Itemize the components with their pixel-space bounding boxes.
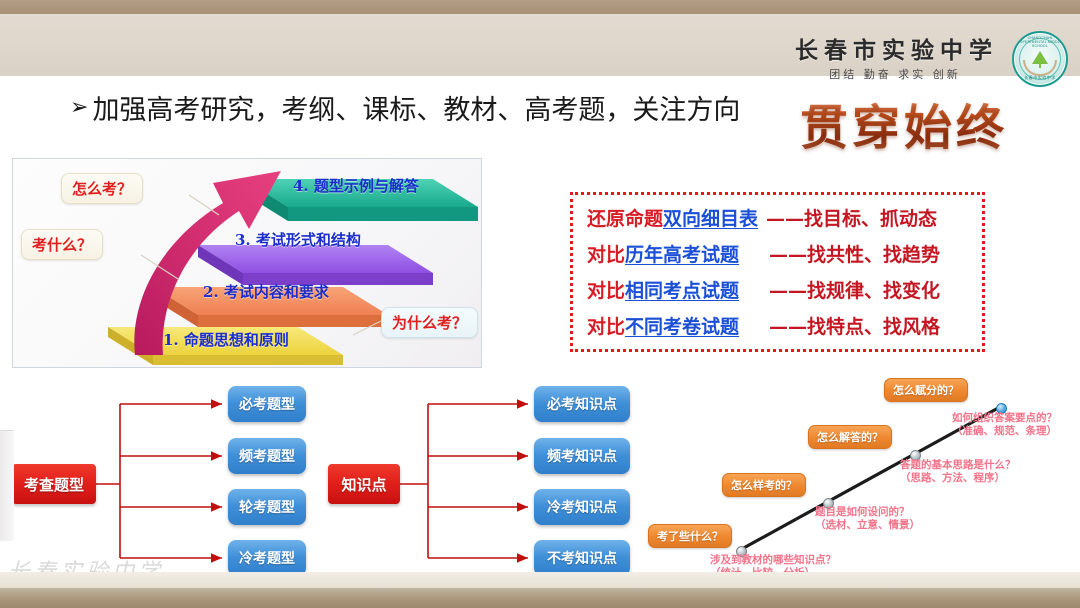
calligraphy-title: 贯穿始终 bbox=[800, 88, 1008, 158]
bullet-arrow-icon: ➢ bbox=[70, 97, 88, 119]
stair-step-1-label: 1. 命题思想和原则 bbox=[163, 329, 289, 350]
flow-node-must-test-type[interactable]: 必考题型 bbox=[228, 386, 306, 422]
strategy-row-lead: 还原命题 bbox=[587, 201, 663, 237]
callout-what-to-test: 考什么？ bbox=[21, 229, 103, 260]
ladder-note-3-line2: （思路、方法、程序） bbox=[900, 472, 1016, 485]
strategy-row-link: 不同考卷试题 bbox=[625, 309, 739, 345]
ladder-note-1-line1: 涉及到教材的哪些知识点？ bbox=[710, 554, 836, 567]
stair-step-4-label: 4. 题型示例与解答 bbox=[293, 175, 419, 196]
school-badge-icon: CHANGCHUN EXPERIMENTAL MIDDLE SCHOOL 长春市… bbox=[1012, 31, 1068, 87]
ladder-tag-scoring[interactable]: 怎么赋分的？ bbox=[884, 378, 968, 402]
badge-bottom-text: 长春市实验中学 bbox=[1014, 75, 1066, 81]
strategy-row-lead: 对比 bbox=[587, 237, 625, 273]
ladder-note-4-line1: 如何组织答案要点的？ bbox=[952, 412, 1057, 425]
strategy-row-tail: ——找目标、抓动态 bbox=[766, 201, 937, 237]
flow-root-question-types[interactable]: 考查题型 bbox=[12, 464, 96, 504]
slide-headline: ➢ 加强高考研究，考纲、课标、教材、高考题，关注方向 bbox=[70, 88, 740, 127]
flow-node-cold-knowledge[interactable]: 冷考知识点 bbox=[534, 489, 630, 525]
slide-header: 长春市实验中学 团结 勤奋 求实 创新 CHANGCHUN EXPERIMENT… bbox=[0, 14, 1080, 76]
strategy-row-link: 相同考点试题 bbox=[625, 273, 739, 309]
bottom-light-strip bbox=[0, 572, 1080, 588]
ladder-tag-answering[interactable]: 怎么解答的？ bbox=[808, 425, 892, 449]
strategy-row: 对比 历年高考试题 ——找共性、找趋势 bbox=[587, 237, 968, 273]
ladder-note-2-line2: （选材、立意、情景） bbox=[815, 519, 920, 532]
stair-step-2-label: 2. 考试内容和要求 bbox=[203, 281, 329, 302]
strategy-row-lead: 对比 bbox=[587, 273, 625, 309]
school-name: 长春市实验中学 bbox=[789, 39, 998, 62]
strategy-dashed-box: 还原命题 双向细目表 ——找目标、抓动态 对比 历年高考试题 ——找共性、找趋势… bbox=[570, 192, 985, 352]
ladder-tag-how-tested[interactable]: 怎么样考的？ bbox=[722, 473, 806, 497]
strategy-row-link: 历年高考试题 bbox=[625, 237, 739, 273]
strategy-row-link: 双向细目表 bbox=[663, 201, 758, 237]
flow-root-knowledge-points[interactable]: 知识点 bbox=[328, 464, 400, 504]
callout-how-to-test: 怎么考？ bbox=[61, 173, 143, 204]
flowchart-area: 考查题型 必考题型 频考题型 轮考题型 冷考题型 知识点 必考知识点 频考知识点… bbox=[0, 372, 1080, 577]
slide-canvas: 长春市实验中学 团结 勤奋 求实 创新 CHANGCHUN EXPERIMENT… bbox=[0, 0, 1080, 608]
strategy-row-tail: ——找共性、找趋势 bbox=[769, 237, 940, 273]
top-brown-band bbox=[0, 0, 1080, 14]
flow-node-frequent-test-type[interactable]: 频考题型 bbox=[228, 438, 306, 474]
left-panel-edge bbox=[0, 430, 14, 541]
staircase-panel: 怎么考？ 考什么？ 为什么考？ 4. 题型示例与解答 3. 考试形式和结构 2.… bbox=[12, 158, 482, 368]
stair-step-3-label: 3. 考试形式和结构 bbox=[235, 229, 361, 250]
badge-top-text: CHANGCHUN EXPERIMENTAL MIDDLE SCHOOL bbox=[1014, 36, 1066, 48]
ladder-note-4: 如何组织答案要点的？ （准确、规范、条理） bbox=[952, 412, 1057, 438]
callout-why-to-test: 为什么考？ bbox=[381, 307, 478, 338]
ladder-note-2: 题目是如何设问的？ （选材、立意、情景） bbox=[815, 506, 920, 532]
ladder-note-3-line1: 答题的基本思路是什么？ bbox=[900, 459, 1016, 472]
strategy-row-tail: ——找规律、找变化 bbox=[769, 273, 940, 309]
bottom-brown-band bbox=[0, 588, 1080, 608]
flow-node-frequent-knowledge[interactable]: 频考知识点 bbox=[534, 438, 630, 474]
ladder-note-3: 答题的基本思路是什么？ （思路、方法、程序） bbox=[900, 459, 1016, 485]
flow-node-must-knowledge[interactable]: 必考知识点 bbox=[534, 386, 630, 422]
strategy-row-tail: ——找特点、找风格 bbox=[769, 309, 940, 345]
ladder-note-4-line2: （准确、规范、条理） bbox=[952, 425, 1057, 438]
flow-node-rotating-test-type[interactable]: 轮考题型 bbox=[228, 489, 306, 525]
ladder-note-2-line1: 题目是如何设问的？ bbox=[815, 506, 920, 519]
ladder-tag-what-tested[interactable]: 考了些什么？ bbox=[648, 524, 732, 548]
school-motto: 团结 勤奋 求实 创新 bbox=[826, 69, 961, 80]
headline-text: 加强高考研究，考纲、课标、教材、高考题，关注方向 bbox=[92, 88, 740, 127]
strategy-row: 还原命题 双向细目表 ——找目标、抓动态 bbox=[587, 201, 968, 237]
strategy-row-lead: 对比 bbox=[587, 309, 625, 345]
flow-node-cold-test-type[interactable]: 冷考题型 bbox=[228, 540, 306, 576]
header-brand: 长春市实验中学 团结 勤奋 求实 创新 CHANGCHUN EXPERIMENT… bbox=[789, 28, 1068, 90]
school-text-block: 长春市实验中学 团结 勤奋 求实 创新 bbox=[789, 39, 998, 80]
strategy-row: 对比 不同考卷试题 ——找特点、找风格 bbox=[587, 309, 968, 345]
strategy-row: 对比 相同考点试题 ——找规律、找变化 bbox=[587, 273, 968, 309]
flow-node-not-tested-knowledge[interactable]: 不考知识点 bbox=[534, 540, 630, 576]
